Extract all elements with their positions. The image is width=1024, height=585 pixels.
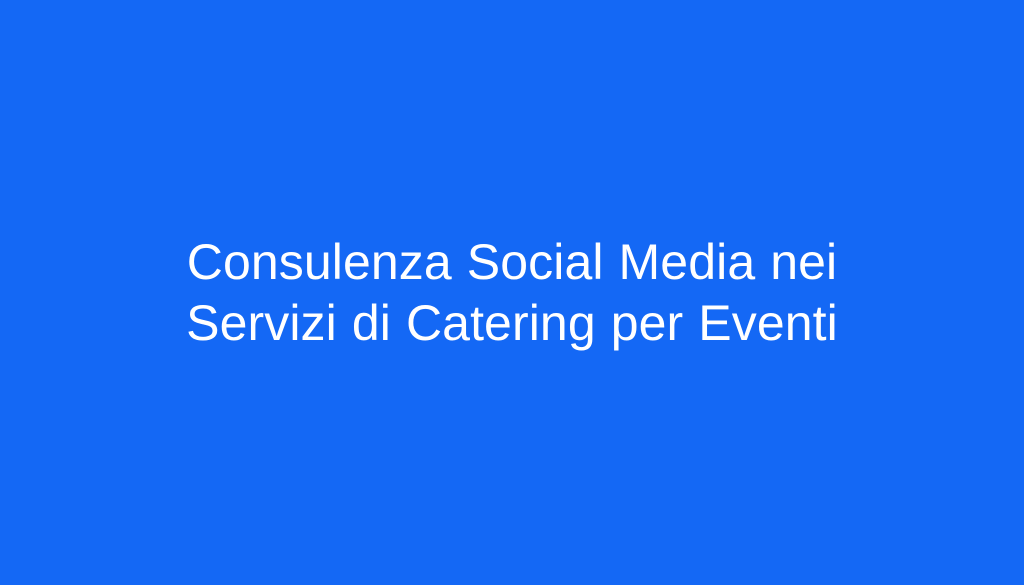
- title-card: Consulenza Social Media nei Servizi di C…: [0, 0, 1024, 585]
- page-title: Consulenza Social Media nei Servizi di C…: [92, 232, 932, 354]
